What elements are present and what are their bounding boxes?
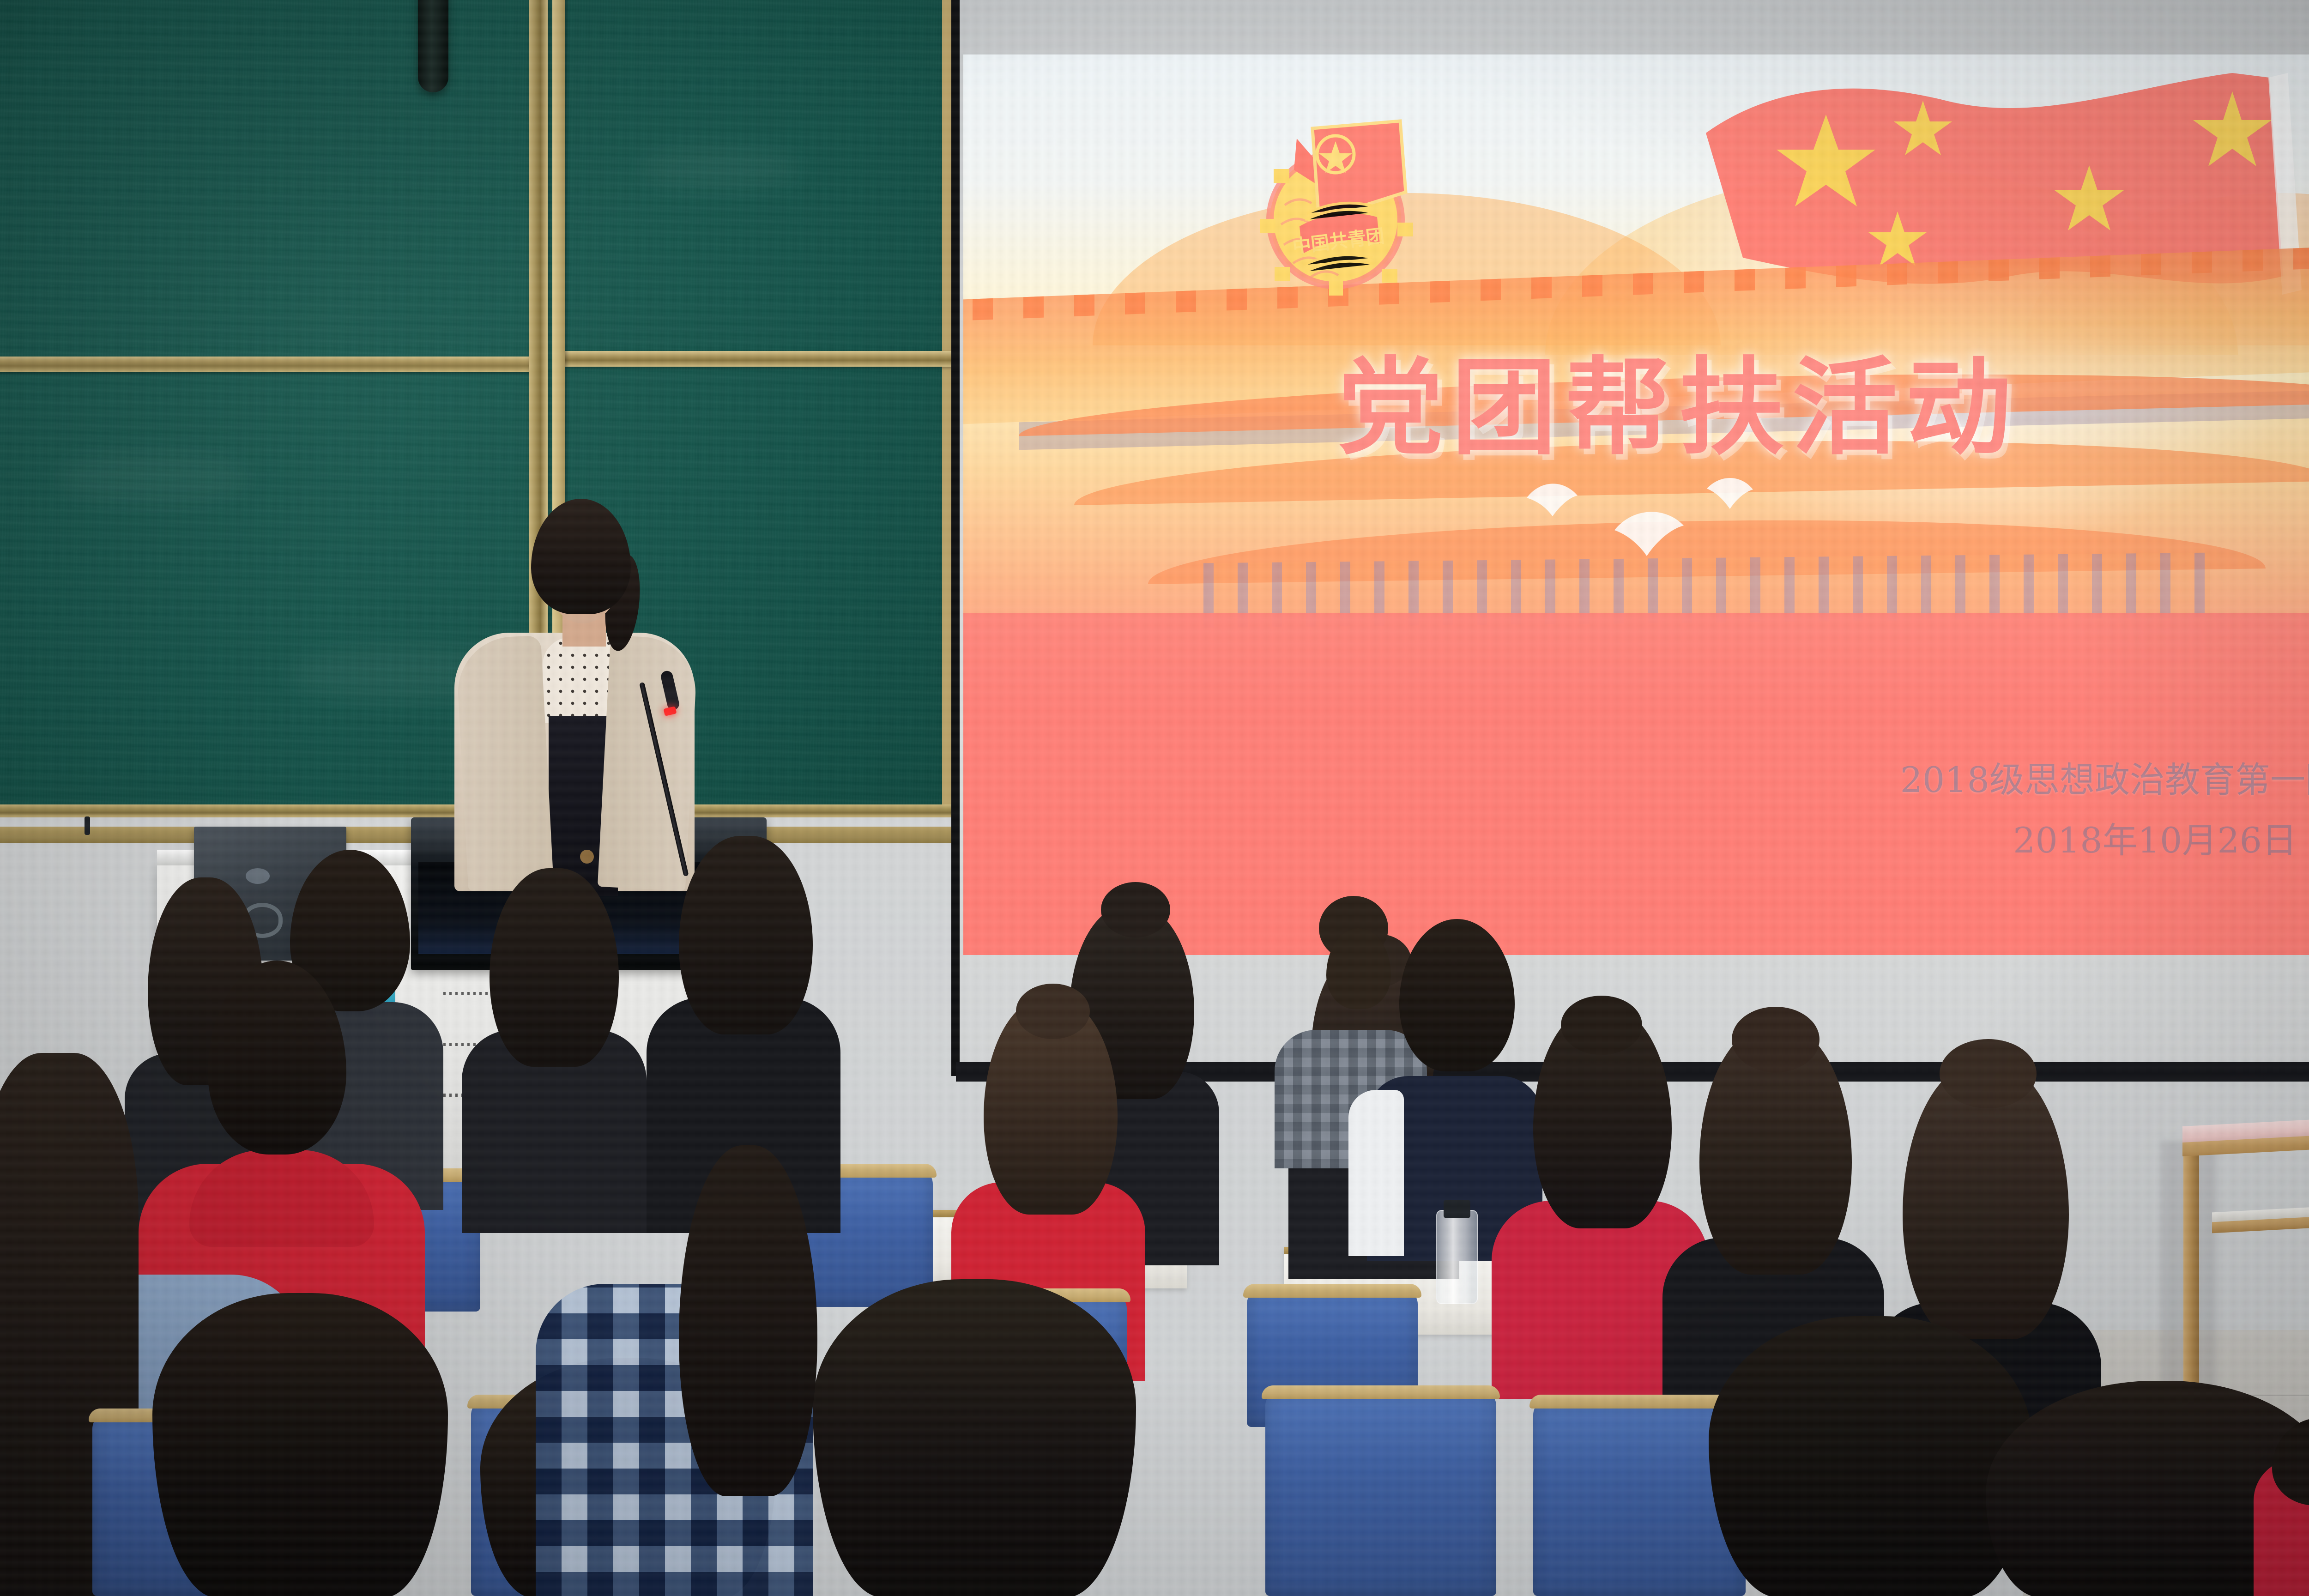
auditorium-seat[interactable] — [1265, 1390, 1496, 1596]
presenter-button — [580, 850, 594, 864]
list-item — [536, 1145, 813, 1596]
presentation-slide: 中国共青团 党团帮扶活动 2018级思想政治教育第一团支 2018年10月26日 — [963, 54, 2309, 955]
bottle-cap — [1444, 1200, 1470, 1218]
list-item — [2254, 1418, 2309, 1596]
water-bottle — [1436, 1210, 1478, 1304]
presenter-cardigan-left-panel — [455, 635, 554, 891]
chalk-smudge — [637, 148, 804, 189]
communist-youth-league-emblem-icon: 中国共青团 — [1245, 115, 1430, 299]
blackboard-rail-horizontal — [0, 357, 531, 372]
laptop-stylus — [85, 816, 90, 835]
ceiling-microphone-boom — [418, 0, 448, 92]
list-item — [1709, 1316, 2032, 1596]
dove-icons — [1508, 470, 1795, 590]
presenter-hair — [531, 499, 631, 614]
presenter — [443, 499, 702, 882]
lecture-hall-photo: 中国共青团 党团帮扶活动 2018级思想政治教育第一团支 2018年10月26日 — [0, 0, 2309, 1596]
slide-subtitle: 2018级思想政治教育第一团支 — [1900, 756, 2309, 804]
chalk-smudge — [55, 453, 249, 503]
blackboard-rail-horizontal — [564, 351, 952, 367]
list-item — [152, 1293, 448, 1596]
slide-date: 2018年10月26日 — [2013, 812, 2297, 863]
slide-title: 党团帮扶活动 — [963, 322, 2309, 475]
list-item — [813, 1279, 1136, 1596]
